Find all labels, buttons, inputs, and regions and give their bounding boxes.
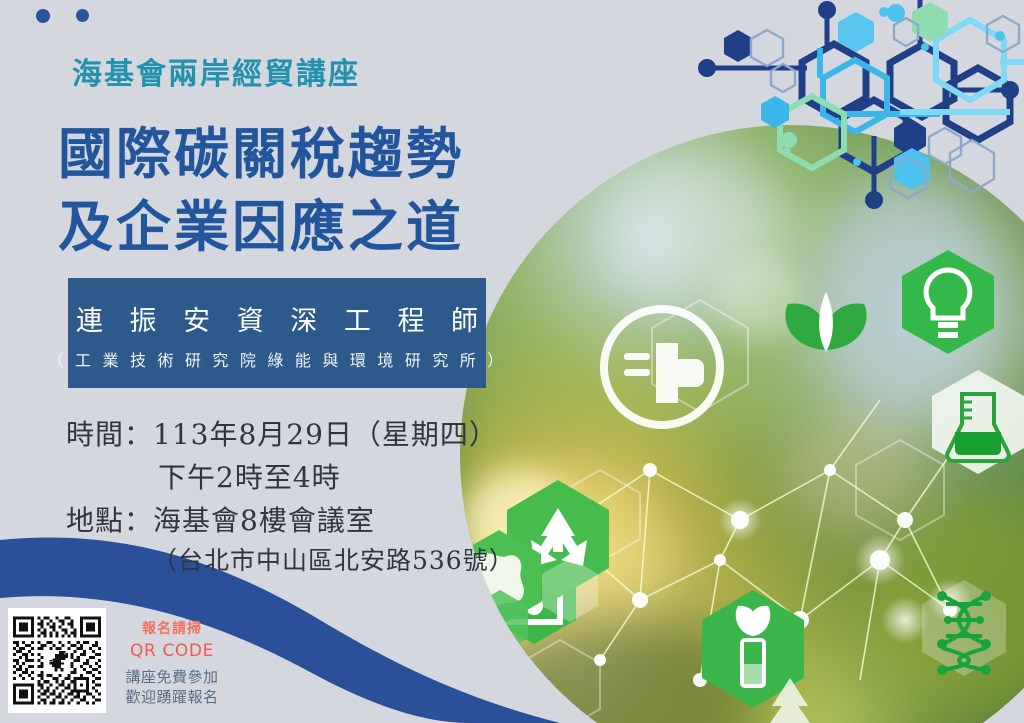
lightbulb-icon	[902, 250, 994, 354]
registration-notes: 報名請掃 QR CODE 講座免費參加 歡迎踴躍報名	[112, 620, 232, 707]
solid-hexagons	[724, 2, 948, 190]
speaker-name: 連 振 安 資 深 工 程 師	[67, 299, 487, 338]
seminar-poster: 海基會兩岸經貿講座 國際碳關稅趨勢 及企業因應之道 連 振 安 資 深 工 程 …	[0, 0, 1024, 723]
qr-code-image[interactable]	[13, 613, 101, 708]
qr-code[interactable]	[8, 608, 106, 713]
pale-hexagon-deco	[542, 558, 598, 622]
welcome-note: 歡迎踴躍報名	[112, 687, 232, 707]
recycle-icon	[507, 480, 609, 598]
event-time-second-line: 下午2時至4時	[66, 457, 515, 500]
event-time-line: 時間：113年8月29日（星期四）	[66, 418, 498, 451]
event-details: 時間：113年8月29日（星期四） 下午2時至4時 地點：海基會8樓會議室 （台…	[66, 414, 515, 581]
title-line-1: 國際碳關稅趨勢	[58, 121, 464, 186]
event-address-line: （台北市中山區北安路536號）	[66, 542, 515, 580]
title-line-2: 及企業因應之道	[58, 191, 464, 264]
qr-code-label: QR CODE	[112, 640, 232, 663]
hex-network-lines	[698, 0, 1024, 209]
leaf-plant-icon	[785, 292, 866, 352]
scan-prompt-text: 報名請掃	[112, 620, 232, 639]
dinosaur-logo-icon	[43, 650, 70, 674]
series-subtitle: 海基會兩岸經貿講座	[72, 49, 360, 93]
page-title: 國際碳關稅趨勢 及企業因應之道	[58, 118, 464, 263]
decor-dot-left	[36, 9, 50, 23]
speaker-organization: （ 工 業 技 術 研 究 院 綠 能 與 環 境 研 究 所 ）	[48, 347, 507, 371]
free-admission-note: 講座免費參加	[112, 667, 232, 687]
dna-icon	[922, 580, 1006, 676]
circle-photo-content	[450, 120, 1024, 723]
decor-dot-right	[76, 9, 89, 22]
plant-beaker-icon	[702, 590, 804, 708]
small-hexagon-deco	[472, 590, 528, 654]
speaker-banner: 連 振 安 資 深 工 程 師 （ 工 業 技 術 研 究 院 綠 能 與 環 …	[68, 278, 486, 388]
plug-icon	[604, 309, 720, 425]
tree-icon	[768, 678, 812, 723]
event-venue-line: 地點：海基會8樓會議室	[66, 504, 375, 537]
beaker-icon	[932, 370, 1024, 474]
